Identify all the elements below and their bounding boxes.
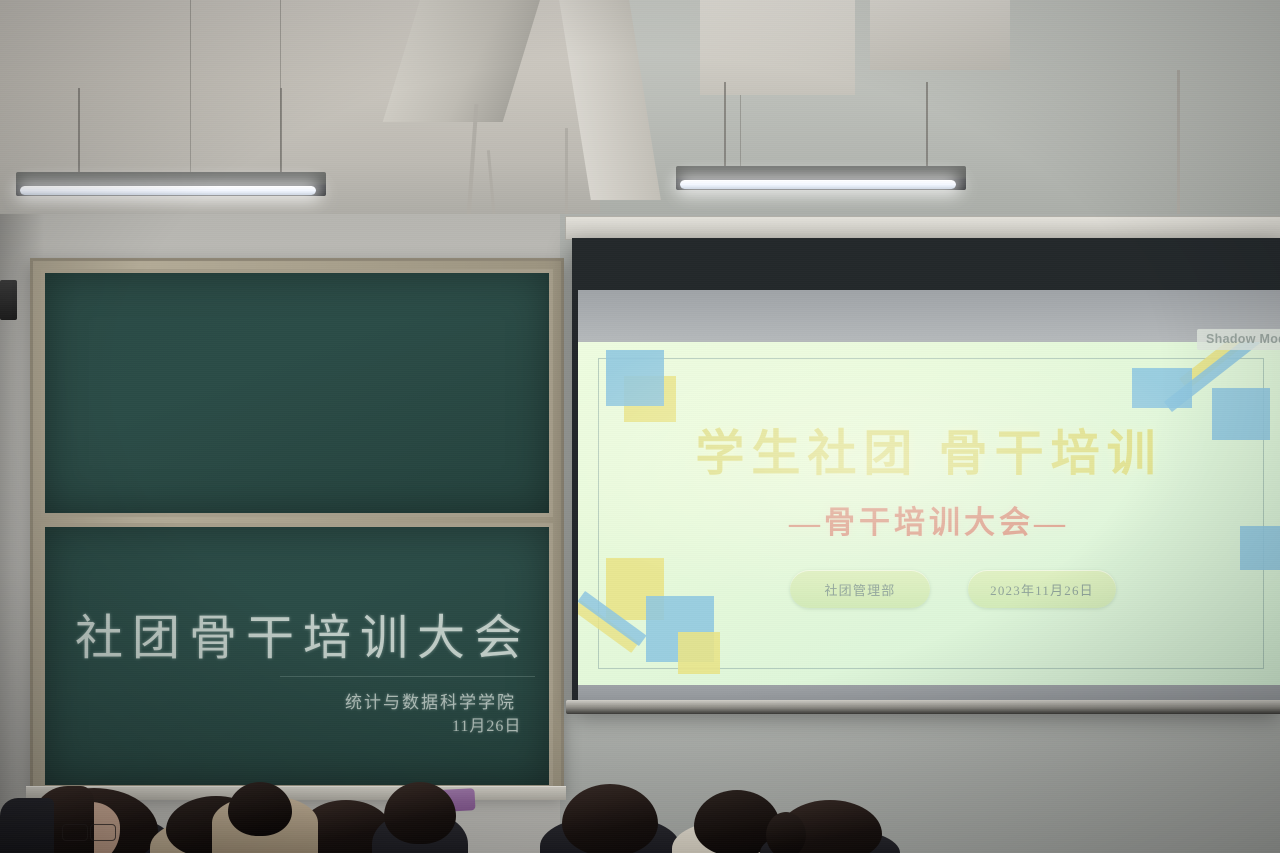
light-stem <box>926 82 928 166</box>
wall-socket <box>0 280 17 320</box>
ceiling-pipe <box>1177 70 1180 216</box>
classroom-photo-scene: 社团骨干培训大会 统计与数据科学学院 11月26日 <box>0 0 1280 853</box>
ceiling-seam <box>190 0 191 178</box>
slide-title: 学生社团 骨干培训 <box>578 414 1280 485</box>
blackboard-chalk-date: 11月26日 <box>452 712 521 736</box>
light-tube <box>20 186 316 195</box>
blackboard-chalk-title: 社团骨干培训大会 <box>75 598 531 668</box>
student-glasses <box>90 824 116 841</box>
student-head <box>384 782 456 844</box>
light-stem <box>724 82 726 166</box>
slide-pill-department: 社团管理部 <box>790 570 930 608</box>
student-body <box>0 798 54 853</box>
screen-dark-top <box>572 238 1280 290</box>
slide-pill-date: 2023年11月26日 <box>968 570 1116 608</box>
fluorescent-light-right <box>676 166 966 190</box>
blackboard-panel-top <box>41 269 553 517</box>
light-stem <box>78 88 80 172</box>
screen-gray-band-top <box>578 290 1280 346</box>
chalk-underline <box>280 676 535 677</box>
student-head <box>228 782 292 836</box>
light-tube <box>680 180 956 189</box>
fluorescent-light-left <box>16 172 326 196</box>
projection-screen-weight-bar <box>566 700 1280 714</box>
student-hair <box>766 812 806 853</box>
square-blue-top-left <box>606 350 664 406</box>
ceiling-pipe <box>565 128 568 224</box>
projection-screen: 学生社团 骨干培训 —骨干培训大会— 社团管理部 2023年11月26日 Sha… <box>572 238 1280 708</box>
projection-screen-case <box>565 216 1280 240</box>
student-head <box>562 784 658 853</box>
shadow-mode-badge: Shadow Mode <box>1197 329 1280 350</box>
slide-subtitle: —骨干培训大会— <box>578 497 1280 542</box>
blackboard-chalk-subtitle: 统计与数据科学学院 <box>345 688 516 713</box>
square-blue-top-right-a <box>1132 368 1192 408</box>
square-yellow-bottom-mid <box>678 632 720 674</box>
presentation-slide: 学生社团 骨干培训 —骨干培训大会— 社团管理部 2023年11月26日 <box>578 342 1280 687</box>
ceiling-beam <box>700 0 855 95</box>
student-glasses <box>62 824 88 841</box>
light-stem <box>280 88 282 172</box>
ceiling-beam <box>870 0 1010 70</box>
